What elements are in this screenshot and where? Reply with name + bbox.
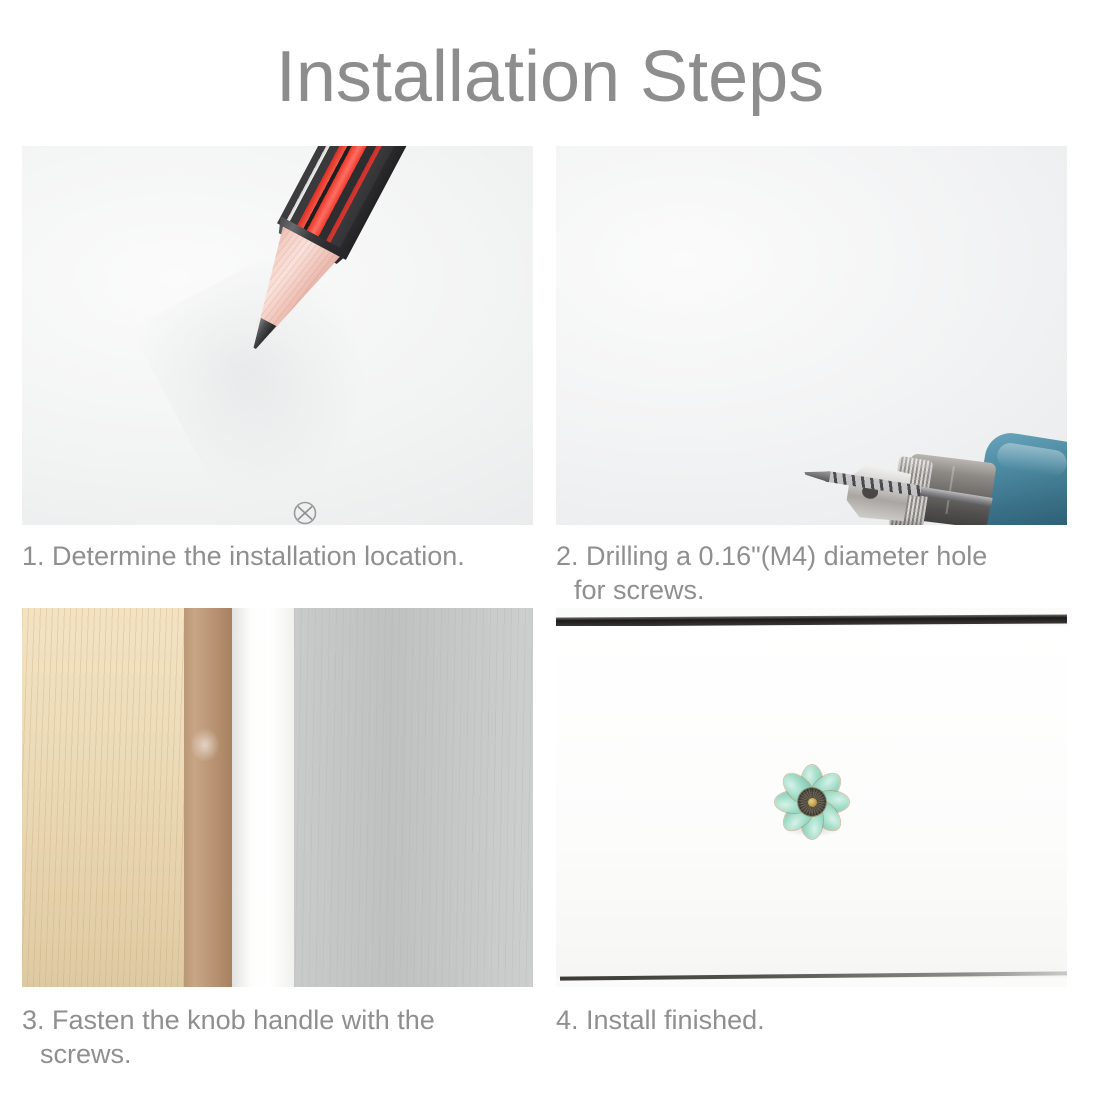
- drawer-top-shadow-line: [556, 614, 1067, 626]
- step-card-1: 1. Determine the installation location.: [22, 146, 533, 573]
- page-title: Installation Steps: [0, 34, 1100, 120]
- install-finished-photo: [556, 608, 1067, 987]
- circled-x-mark-icon: [292, 500, 318, 525]
- step-card-2: 2. Drilling a 0.16"(M4) diameter hole fo…: [556, 146, 1067, 607]
- wood-edge-strip: [184, 608, 232, 987]
- cabinet-scene: [22, 608, 533, 987]
- step-caption-2: 2. Drilling a 0.16"(M4) diameter hole fo…: [556, 539, 1061, 607]
- knob-bronze-hub: [798, 788, 826, 816]
- step-card-4: 4. Install finished.: [556, 608, 1067, 1037]
- mint-flower-knob-front: [775, 765, 849, 839]
- step-caption-1: 1. Determine the installation location.: [22, 539, 527, 573]
- pencil-marking-photo: [22, 146, 533, 525]
- step-card-3: 3. Fasten the knob handle with the screw…: [22, 608, 533, 1071]
- white-drawer-edge: [232, 608, 294, 987]
- drilling-hole-photo: [556, 146, 1067, 525]
- bit-tip: [803, 467, 830, 482]
- gray-drawer-front: [294, 608, 533, 987]
- step-caption-3: 3. Fasten the knob handle with the screw…: [22, 1003, 527, 1071]
- pine-wood-panel: [22, 608, 184, 987]
- step-caption-4: 4. Install finished.: [556, 1003, 1061, 1037]
- fastening-knob-photo: [22, 608, 533, 987]
- electric-drill-icon: [794, 436, 1067, 525]
- knob-brass-center-dot: [808, 798, 817, 807]
